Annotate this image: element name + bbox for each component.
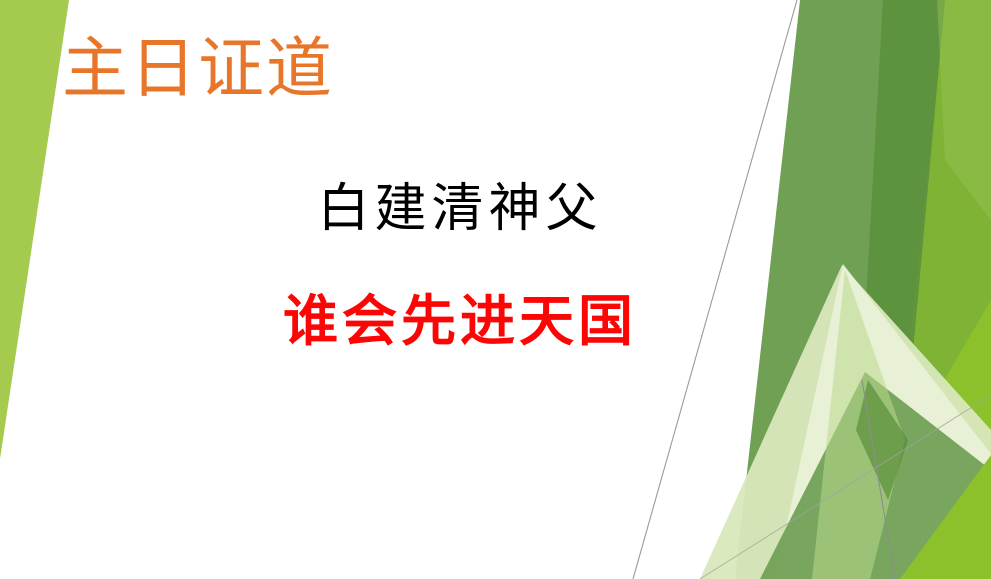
facet-deep-green-small <box>856 380 908 500</box>
presentation-slide: 主日证道 白建清神父 谁会先进天国 <box>0 0 991 579</box>
facet-lime-right <box>866 0 991 579</box>
facet-medium-green-lower <box>760 372 991 579</box>
facet-lime-accent-bottom <box>900 455 991 579</box>
slide-title: 主日证道 <box>62 31 702 108</box>
facet-deep-green-band <box>862 0 945 440</box>
hairline-cross-shallow <box>700 395 991 579</box>
facet-very-pale-triangle <box>775 264 991 579</box>
facet-bright-lime-lower <box>828 300 991 579</box>
presenter-name: 白建清神父 <box>128 178 792 240</box>
slide-body: 白建清神父 谁会先进天国 <box>128 178 792 354</box>
hairline-diagonal-steep <box>862 380 895 579</box>
left-green-wedge <box>0 0 69 459</box>
facet-pale-highlight <box>937 0 991 220</box>
sermon-topic: 谁会先进天国 <box>128 288 792 354</box>
facet-light-sliver <box>812 270 905 579</box>
